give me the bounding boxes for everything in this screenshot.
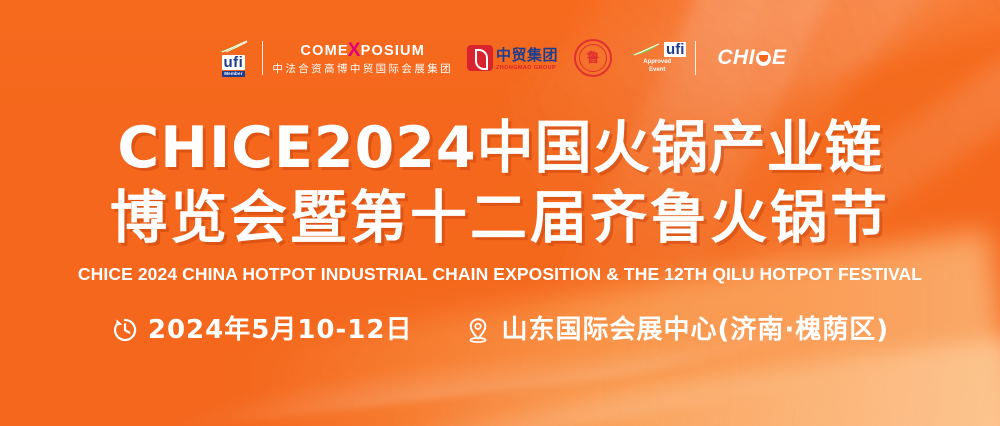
sponsor-logo-strip: ufi Member COME X POSIUM 中法合资高博中贸国际会展集团 … <box>0 33 1000 83</box>
logo-ufi-approved-event: ufi Approved Event <box>628 42 686 75</box>
event-info-row: 2024年5月10-12日 山东国际会展中心(济南·槐荫区) <box>0 316 1000 344</box>
comex-text-before: COME <box>300 44 348 59</box>
hotpot-icon <box>756 51 771 66</box>
ufi-approved-sub-2: Event <box>649 67 665 75</box>
comex-x-glyph: X <box>348 41 362 60</box>
logo-qilu-seal: 鲁 <box>574 39 612 77</box>
comex-text-after: POSIUM <box>361 44 425 59</box>
logo-zhongmao-group: 中贸集团 ZHONGMAO GROUP <box>467 45 558 71</box>
event-date-item: 2024年5月10-12日 <box>111 316 413 344</box>
chice-text-before: CHI <box>717 46 755 70</box>
bottom-right-glow-wedge-2 <box>396 337 1000 426</box>
logo-comexposium: COME X POSIUM 中法合资高博中贸国际会展集团 <box>272 41 453 75</box>
logo-divider-1 <box>262 41 263 75</box>
bottom-wave-3 <box>383 284 917 426</box>
event-banner: ufi Member COME X POSIUM 中法合资高博中贸国际会展集团 … <box>0 0 1000 426</box>
logo-divider-2 <box>695 41 696 75</box>
zhongmao-mark-icon <box>467 45 493 71</box>
page-title-line-2: 博览会暨第十二届齐鲁火锅节 <box>0 190 1000 247</box>
logo-ufi-sub: Member <box>222 71 244 77</box>
location-pin-icon <box>464 316 492 344</box>
event-venue-text: 山东国际会展中心(济南·槐荫区) <box>501 317 889 343</box>
bottom-wave-2 <box>251 336 868 426</box>
ufi-wing-icon <box>628 42 662 58</box>
qilu-seal-character: 鲁 <box>587 52 600 65</box>
page-title-line-1: CHICE2024中国火锅产业链 <box>0 120 1000 177</box>
ufi-approved-sub-1: Approved <box>643 59 671 67</box>
ufi-approved-word: ufi <box>664 42 686 57</box>
clock-history-icon <box>111 316 139 344</box>
logo-comexposium-chinese: 中法合资高博中贸国际会展集团 <box>272 64 453 75</box>
logo-chice: CHI E <box>717 46 786 70</box>
zhongmao-chinese: 中贸集团 <box>496 48 558 63</box>
event-venue-item: 山东国际会展中心(济南·槐荫区) <box>464 316 889 344</box>
event-date-text: 2024年5月10-12日 <box>148 317 413 343</box>
page-subtitle-english: CHICE 2024 CHINA HOTPOT INDUSTRIAL CHAIN… <box>0 264 1000 285</box>
chice-text-after: E <box>772 46 787 70</box>
logo-ufi-member: ufi Member <box>213 39 253 77</box>
zhongmao-english: ZHONGMAO GROUP <box>496 65 558 71</box>
logo-comexposium-wordmark: COME X POSIUM <box>300 41 425 60</box>
ufi-wing-icon <box>216 39 250 55</box>
logo-ufi-word: ufi <box>222 55 246 70</box>
